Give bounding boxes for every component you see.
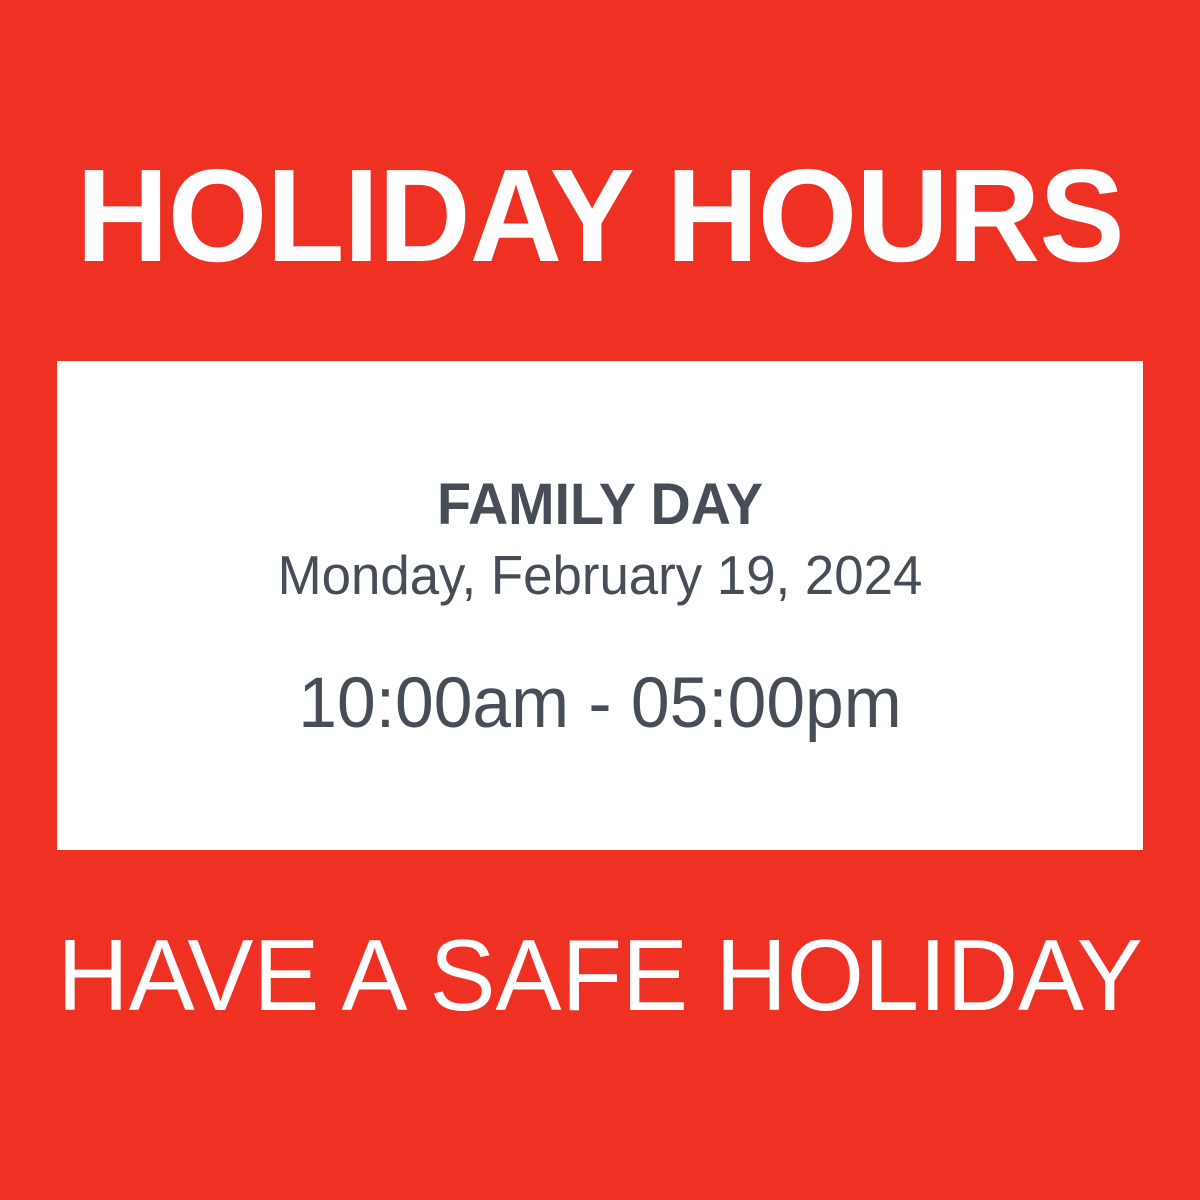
holiday-info-content: FAMILY DAY Monday, February 19, 2024 10:… <box>57 474 1143 744</box>
holiday-name: FAMILY DAY <box>79 474 1122 536</box>
holiday-hours: 10:00am - 05:00pm <box>68 664 1132 744</box>
holiday-info-card: FAMILY DAY Monday, February 19, 2024 10:… <box>57 361 1143 850</box>
holiday-hours-poster: HOLIDAY HOURS FAMILY DAY Monday, Februar… <box>0 0 1200 1200</box>
holiday-date: Monday, February 19, 2024 <box>79 542 1122 608</box>
footer-message: HAVE A SAFE HOLIDAY <box>12 922 1188 1030</box>
page-title: HOLIDAY HOURS <box>18 148 1182 284</box>
